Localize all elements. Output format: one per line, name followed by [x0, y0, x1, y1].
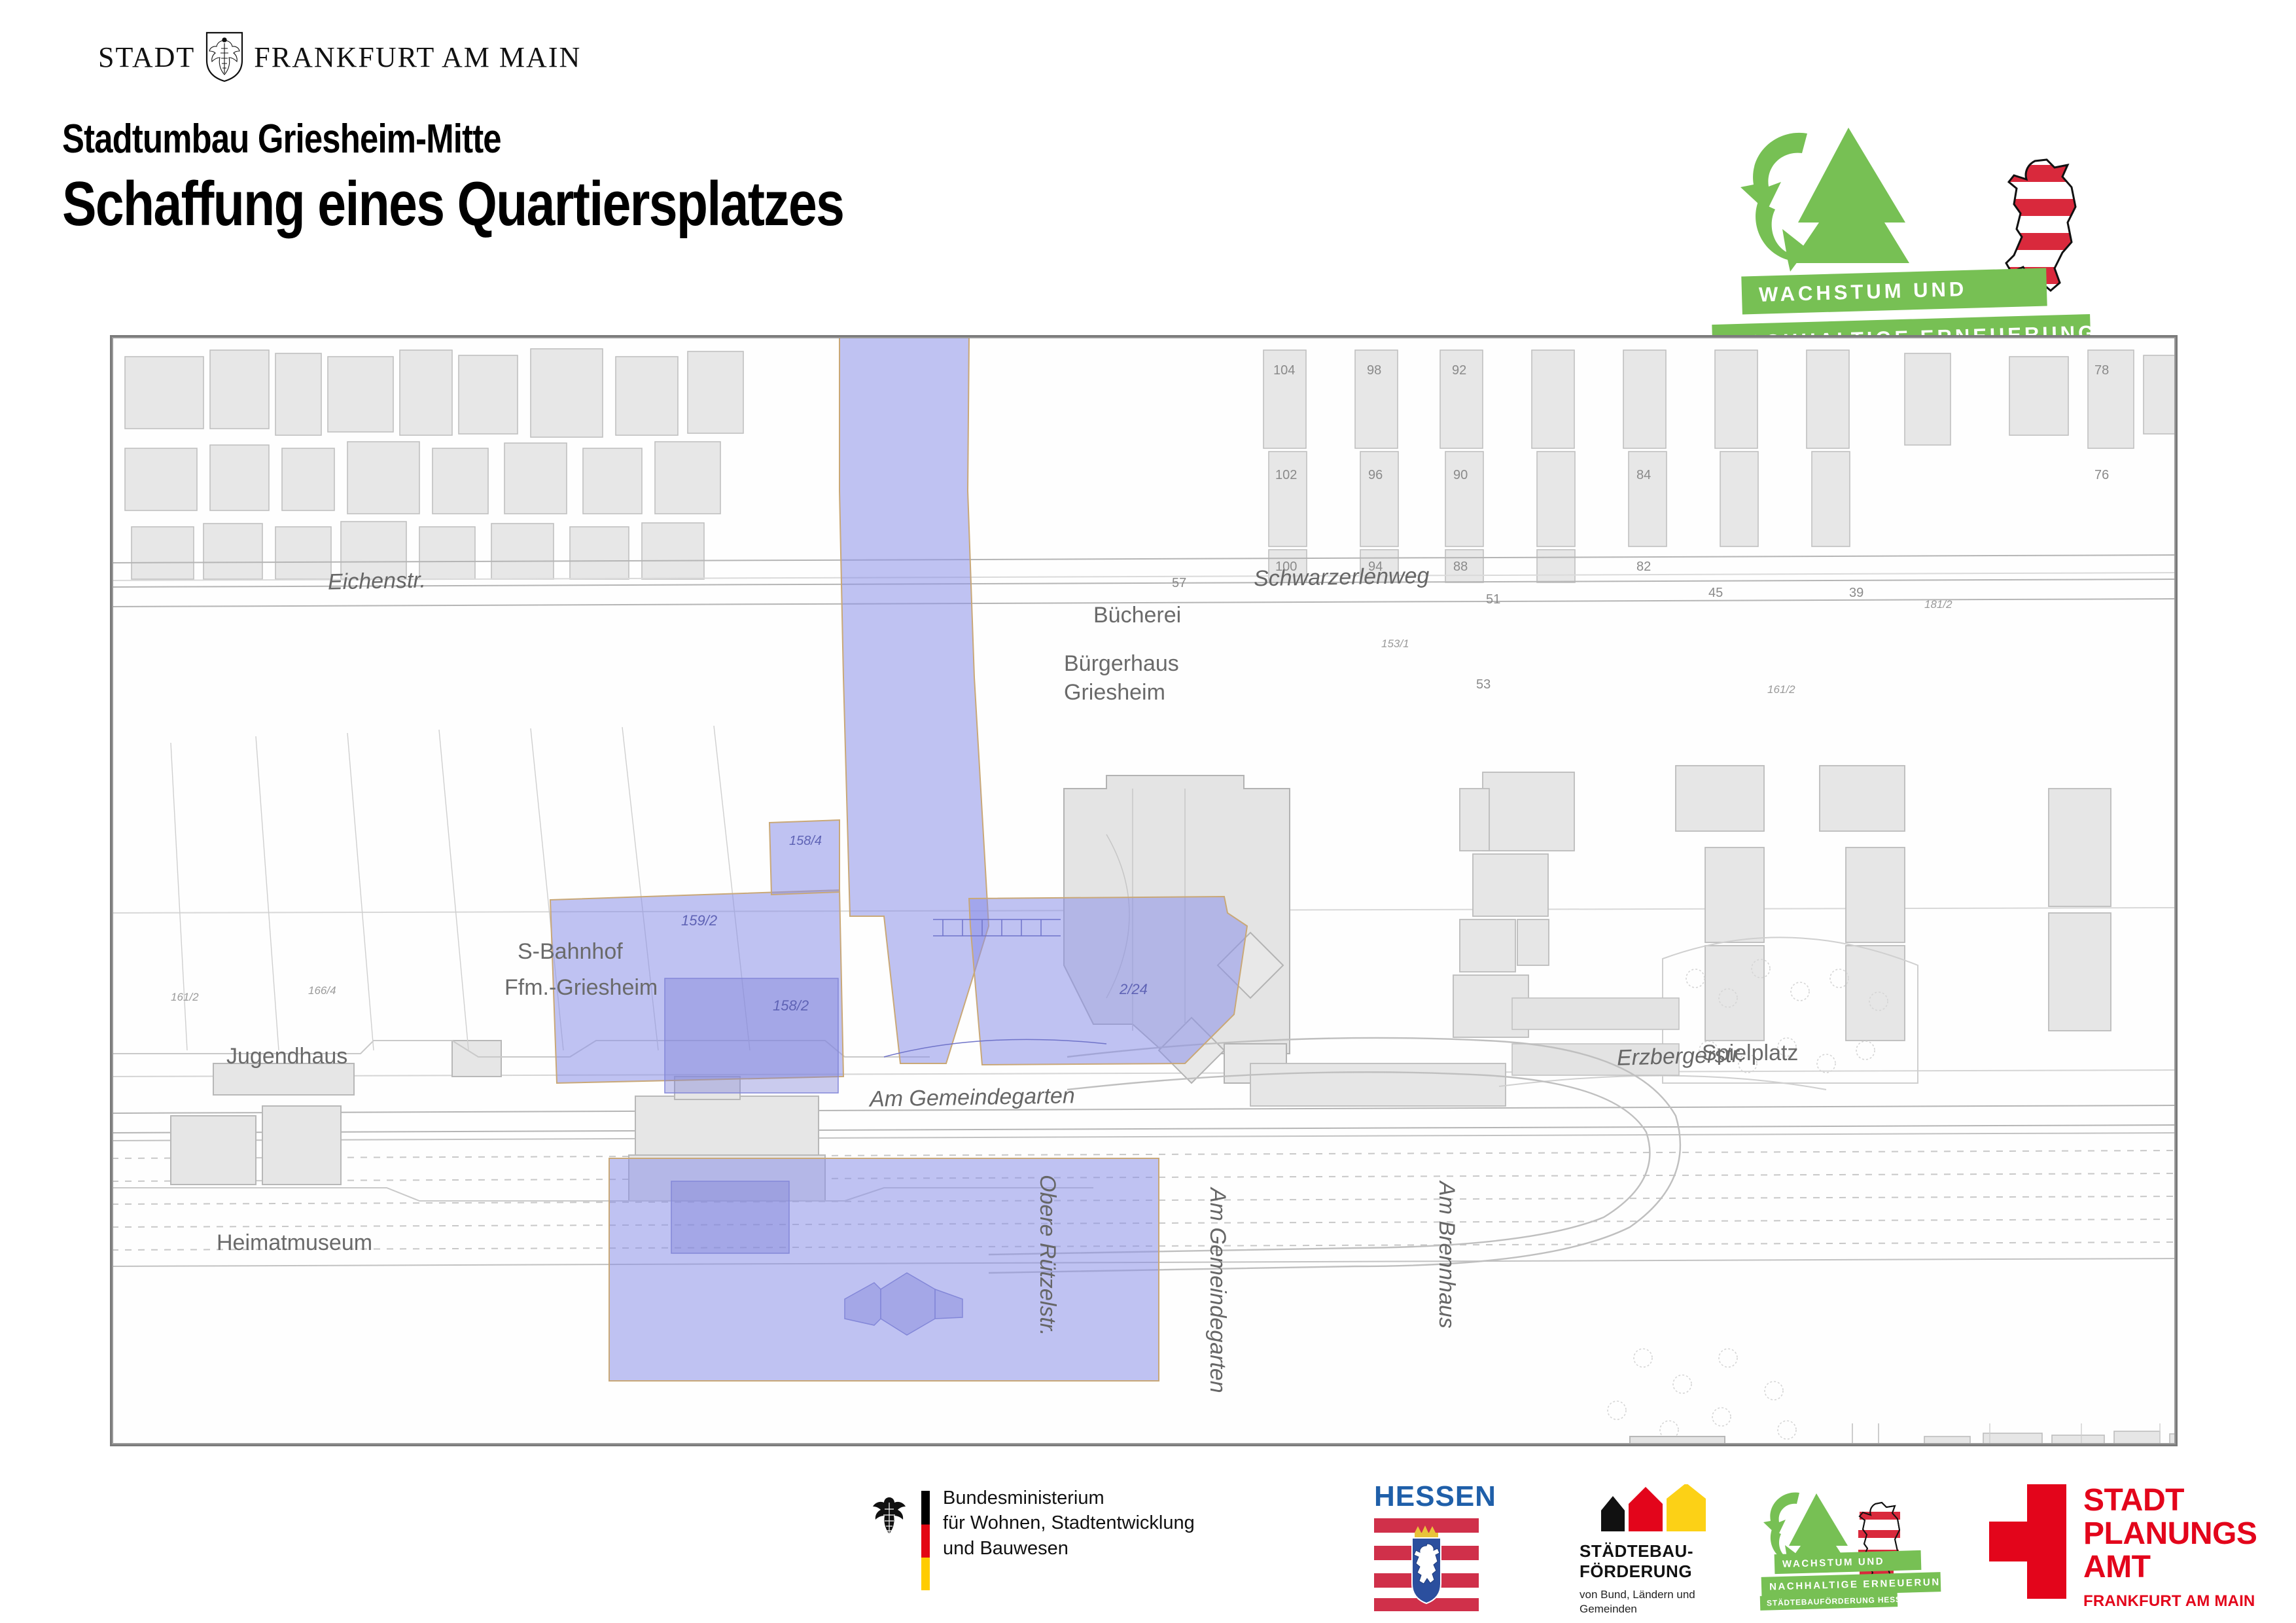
wachstum-erneuerung-logo-small: WACHSTUM UND NACHHALTIGE ERNEUERUNG STÄD… — [1760, 1487, 1956, 1605]
spa-line3: AMT — [2083, 1551, 2257, 1584]
project-subtitle: Stadtumbau Griesheim-Mitte — [62, 119, 843, 160]
page-footer: Bundesministerium für Wohnen, Stadtentwi… — [0, 1472, 2296, 1623]
frankfurt-eagle-crest-icon — [204, 31, 245, 82]
spa-wordmark: STADT PLANUNGS AMT — [2083, 1484, 2257, 1584]
hessen-logo: HESSEN — [1374, 1480, 1479, 1616]
staedtebaufoerderung-logo: STÄDTEBAU- FÖRDERUNG von Bund, Ländern u… — [1577, 1484, 1724, 1617]
page-header: Stadt Frankfurt am Main Stadtumbau Gries… — [0, 0, 2296, 327]
bundesadler-icon — [870, 1495, 908, 1539]
bmwsb-logo: Bundesministerium für Wohnen, Stadtentwi… — [870, 1486, 1195, 1590]
staedtebau-subtitle: von Bund, Ländern und Gemeinden — [1577, 1588, 1724, 1616]
spa-line2: PLANUNGS — [2083, 1518, 2257, 1551]
stadtplanungsamt-logo: STADT PLANUNGS AMT FRANKFURT AM MAIN — [1989, 1484, 2257, 1611]
bmwsb-line2: für Wohnen, Stadtentwicklung — [943, 1510, 1195, 1535]
wachstum-small-line3: STÄDTEBAUFÖRDERUNG HESSEN — [1760, 1592, 1898, 1611]
hessen-coat-of-arms-icon — [1374, 1516, 1479, 1613]
bmwsb-line3: und Bauwesen — [943, 1536, 1195, 1561]
staedtebau-line1: STÄDTEBAU- — [1580, 1541, 1724, 1561]
german-flag-bar — [921, 1491, 930, 1590]
spa-line1: STADT — [2083, 1484, 2257, 1518]
staedtebau-line2: FÖRDERUNG — [1580, 1561, 1724, 1582]
spa-subtitle: FRANKFURT AM MAIN — [2083, 1592, 2257, 1611]
city-of-frankfurt-logo: Stadt Frankfurt am Main — [98, 34, 581, 80]
city-logo-word-frankfurt: Frankfurt am Main — [254, 41, 581, 74]
spa-block-mark-icon — [1989, 1484, 2066, 1599]
three-houses-icon — [1585, 1484, 1716, 1531]
city-logo-word-stadt: Stadt — [98, 41, 195, 74]
title-block: Stadtumbau Griesheim-Mitte Schaffung ein… — [62, 119, 1015, 238]
staedtebau-title: STÄDTEBAU- FÖRDERUNG — [1577, 1541, 1724, 1581]
staedtebau-sub2: Gemeinden — [1580, 1602, 1724, 1616]
bmwsb-text: Bundesministerium für Wohnen, Stadtentwi… — [943, 1486, 1195, 1561]
recycle-arrow-tree-icon — [1734, 124, 1950, 288]
map-vector-layer — [112, 337, 2176, 1444]
wachstum-small-line1: WACHSTUM UND — [1775, 1550, 1922, 1574]
hessen-wordmark: HESSEN — [1374, 1480, 1479, 1513]
page-title: Schaffung eines Quartiersplatzes — [62, 171, 843, 238]
bmwsb-line1: Bundesministerium — [943, 1486, 1195, 1510]
staedtebau-sub1: von Bund, Ländern und — [1580, 1588, 1724, 1602]
cadastral-map[interactable]: Eichenstr. Schwarzerlenweg Am Gemeindega… — [110, 335, 2178, 1446]
